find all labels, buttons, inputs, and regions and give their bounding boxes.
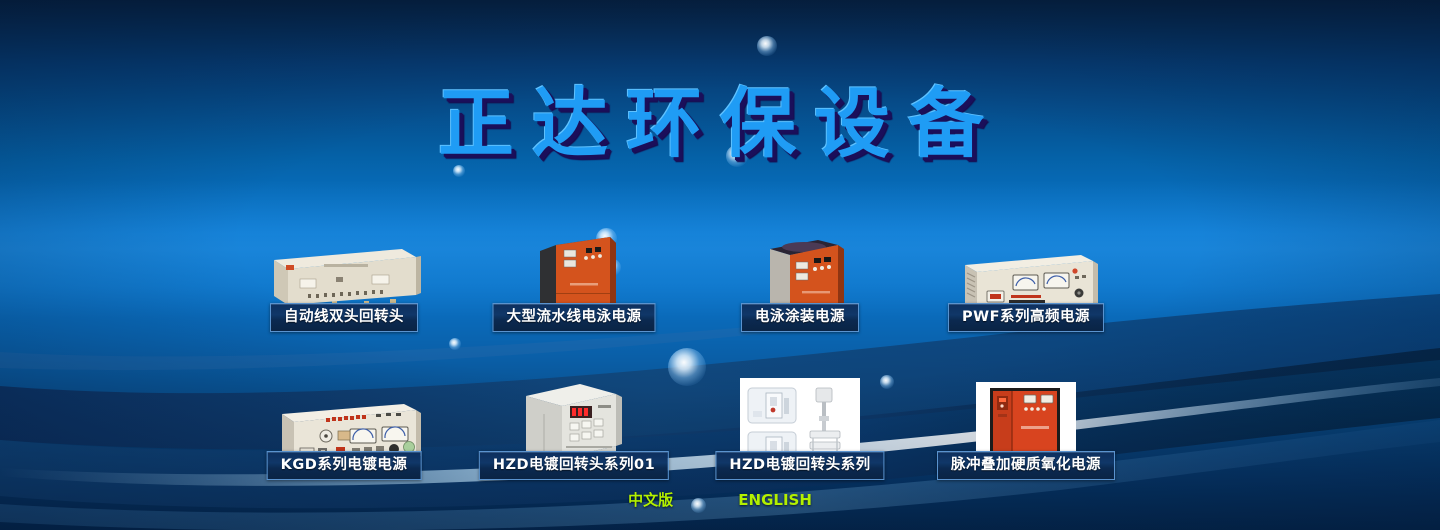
product-label-5[interactable]: KGD系列电镀电源	[267, 451, 422, 480]
product-label-3[interactable]: 电泳涂装电源	[741, 303, 859, 332]
product-card-4[interactable]: PWF系列高频电源	[926, 200, 1126, 331]
product-label-6[interactable]: HZD电镀回转头系列01	[479, 451, 669, 480]
product-label-2[interactable]: 大型流水线电泳电源	[493, 303, 656, 332]
product-card-3[interactable]: 电泳涂装电源	[700, 192, 900, 331]
product-label-8[interactable]: 脉冲叠加硬质氧化电源	[937, 451, 1115, 480]
homepage-banner: 正达环保设备	[0, 0, 1440, 530]
product-card-8[interactable]: 脉冲叠加硬质氧化电源	[926, 344, 1126, 480]
product-label-7[interactable]: HZD电镀回转头系列	[715, 451, 884, 480]
product-label-1[interactable]: 自动线双头回转头	[270, 303, 418, 332]
product-label-4[interactable]: PWF系列高频电源	[948, 303, 1104, 332]
language-switcher: 中文版 ENGLISH	[0, 489, 1440, 510]
product-card-5[interactable]: KGD系列电镀电源	[244, 352, 444, 480]
language-link-english[interactable]: ENGLISH	[738, 491, 812, 509]
language-link-chinese[interactable]: 中文版	[628, 489, 673, 510]
page-title: 正达环保设备	[0, 62, 1440, 172]
product-card-2[interactable]: 大型流水线电泳电源	[474, 188, 674, 331]
product-card-6[interactable]: HZD电镀回转头系列01	[474, 342, 674, 480]
product-card-1[interactable]: 自动线双头回转头	[244, 196, 444, 331]
product-card-7[interactable]: HZD电镀回转头系列	[700, 340, 900, 480]
